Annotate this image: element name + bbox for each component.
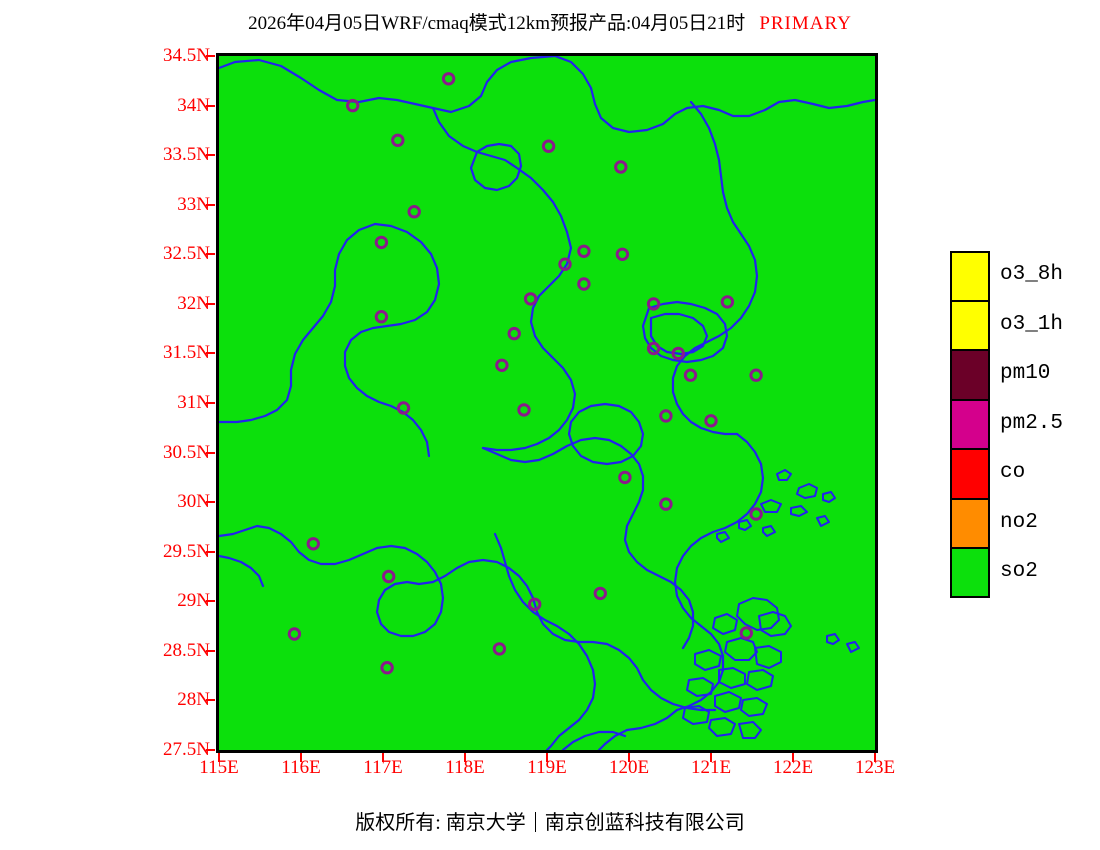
latitude-tick-mark (206, 55, 215, 57)
longitude-tick-mark (218, 753, 220, 762)
latitude-tick-label: 28N (138, 690, 210, 709)
latitude-tick-mark (206, 699, 215, 701)
legend-label: co (1000, 461, 1025, 484)
station-marker (543, 141, 553, 151)
latitude-axis: 34.5N34N33.5N33N32.5N32N31.5N31N30.5N30N… (134, 0, 210, 850)
station-marker (722, 297, 732, 307)
station-marker (661, 411, 671, 421)
latitude-tick-label: 32.5N (138, 244, 210, 263)
legend-label: no2 (1000, 511, 1038, 534)
station-marker (382, 663, 392, 673)
latitude-tick-mark (206, 154, 215, 156)
longitude-tick-mark (546, 753, 548, 762)
latitude-tick-mark (206, 402, 215, 404)
station-marker (685, 370, 695, 380)
legend-swatch-icon (950, 301, 990, 351)
latitude-tick-mark (206, 452, 215, 454)
title-primary-text: PRIMARY (759, 13, 852, 34)
legend-swatch-icon (950, 548, 990, 598)
station-marker (620, 472, 630, 482)
station-marker (751, 370, 761, 380)
title-main-text: 2026年04月05日WRF/cmaq模式12km预报产品:04月05日21时 (248, 13, 745, 34)
longitude-tick-mark (628, 753, 630, 762)
longitude-tick-mark (792, 753, 794, 762)
station-marker (376, 312, 386, 322)
station-marker (525, 294, 535, 304)
legend-label: pm10 (1000, 362, 1050, 385)
station-marker (579, 279, 589, 289)
latitude-tick-label: 30.5N (138, 443, 210, 462)
longitude-tick-mark (710, 753, 712, 762)
administrative-boundaries (219, 56, 875, 750)
legend-swatch-icon (950, 350, 990, 400)
latitude-tick-label: 30N (138, 492, 210, 511)
latitude-tick-label: 29N (138, 591, 210, 610)
station-marker (616, 162, 626, 172)
latitude-tick-label: 33N (138, 195, 210, 214)
latitude-tick-label: 28.5N (138, 641, 210, 660)
station-marker (289, 629, 299, 639)
legend-swatch-icon (950, 449, 990, 499)
latitude-tick-mark (206, 253, 215, 255)
legend-swatch-icon (950, 499, 990, 549)
latitude-tick-mark (206, 352, 215, 354)
footer-divider (535, 812, 536, 832)
latitude-tick-label: 34.5N (138, 46, 210, 65)
longitude-tick-mark (300, 753, 302, 762)
footer-left-text: 版权所有: 南京大学 (355, 812, 526, 834)
station-marker (376, 237, 386, 247)
longitude-tick-mark (464, 753, 466, 762)
latitude-tick-label: 31N (138, 393, 210, 412)
station-marker (661, 499, 671, 509)
map-plot-area[interactable] (216, 53, 878, 753)
longitude-tick-mark (382, 753, 384, 762)
station-marker (494, 644, 504, 654)
latitude-tick-mark (206, 105, 215, 107)
station-marker (497, 360, 507, 370)
latitude-tick-mark (206, 204, 215, 206)
longitude-tick-mark (874, 753, 876, 762)
latitude-tick-label: 29.5N (138, 542, 210, 561)
latitude-tick-mark (206, 501, 215, 503)
footer-right-text: 南京创蓝科技有限公司 (545, 812, 745, 834)
latitude-tick-label: 34N (138, 96, 210, 115)
legend-swatch-icon (950, 251, 990, 301)
station-marker (751, 509, 761, 519)
latitude-tick-mark (206, 650, 215, 652)
station-marker (706, 416, 716, 426)
station-marker (519, 405, 529, 415)
station-marker (384, 571, 394, 581)
latitude-tick-label: 33.5N (138, 145, 210, 164)
station-marker (308, 539, 318, 549)
legend-label: so2 (1000, 560, 1038, 583)
map-geometry (219, 56, 875, 750)
latitude-tick-mark (206, 551, 215, 553)
station-marker (393, 135, 403, 145)
copyright-footer: 版权所有: 南京大学南京创蓝科技有限公司 (0, 806, 1100, 835)
latitude-tick-mark (206, 749, 215, 751)
station-marker (579, 246, 589, 256)
legend-label: o3_1h (1000, 313, 1063, 336)
station-marker (509, 328, 519, 338)
station-marker (648, 343, 658, 353)
legend-swatch-icon (950, 400, 990, 450)
station-marker (595, 588, 605, 598)
legend-label: pm2.5 (1000, 412, 1063, 435)
station-marker (443, 74, 453, 84)
latitude-tick-mark (206, 600, 215, 602)
legend-label: o3_8h (1000, 263, 1063, 286)
latitude-tick-label: 32N (138, 294, 210, 313)
station-marker (617, 249, 627, 259)
station-marker (741, 628, 751, 638)
station-marker (409, 207, 419, 217)
latitude-tick-mark (206, 303, 215, 305)
latitude-tick-label: 31.5N (138, 343, 210, 362)
